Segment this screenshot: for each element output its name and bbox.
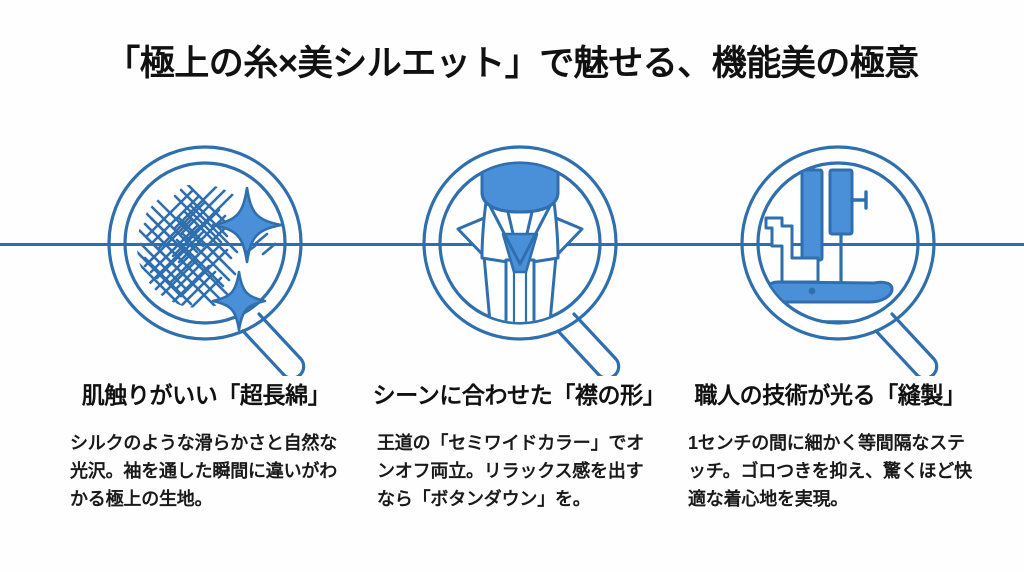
feature-heading-1: 肌触りがいい「超長綿」: [56, 382, 356, 410]
magnifier-shirt-collar-icon: [402, 126, 638, 376]
magnifier-fabric-weave-icon: [87, 126, 323, 376]
feature-columns: 肌触りがいい「超長綿」 シルクのような滑らかさと自然な光沢。袖を通した瞬間に違い…: [0, 382, 1024, 542]
feature-body-3: 1センチの間に細かく等間隔なステッチ。ゴロつきを抑え、驚くほど快適な着心地を実現…: [680, 429, 980, 513]
feature-heading-3: 職人の技術が光る「縫製」: [680, 382, 980, 410]
feature-body-1: シルクのような滑らかさと自然な光沢。袖を通した瞬間に違いがわかる極上の生地。: [56, 429, 356, 513]
feature-heading-2: シーンに合わせた「襟の形」: [369, 382, 669, 410]
page-title-text: 「極上の糸×美シルエット」で魅せる、機能美の極意: [105, 44, 918, 84]
feature-column-2: シーンに合わせた「襟の形」 王道の「セミワイドカラー」でオンオフ両立。リラックス…: [369, 382, 669, 513]
icon-row: [0, 126, 1024, 376]
feature-column-3: 職人の技術が光る「縫製」 1センチの間に細かく等間隔なステッチ。ゴロつきを抑え、…: [680, 382, 980, 513]
slide-root: 「極上の糸×美シルエット」で魅せる、機能美の極意: [0, 0, 1024, 572]
page-title: 「極上の糸×美シルエット」で魅せる、機能美の極意: [0, 44, 1024, 84]
feature-column-1: 肌触りがいい「超長綿」 シルクのような滑らかさと自然な光沢。袖を通した瞬間に違い…: [56, 382, 356, 513]
magnifier-sewing-machine-icon: [720, 126, 956, 376]
feature-body-2: 王道の「セミワイドカラー」でオンオフ両立。リラックス感を出すなら「ボタンダウン」…: [369, 429, 669, 513]
